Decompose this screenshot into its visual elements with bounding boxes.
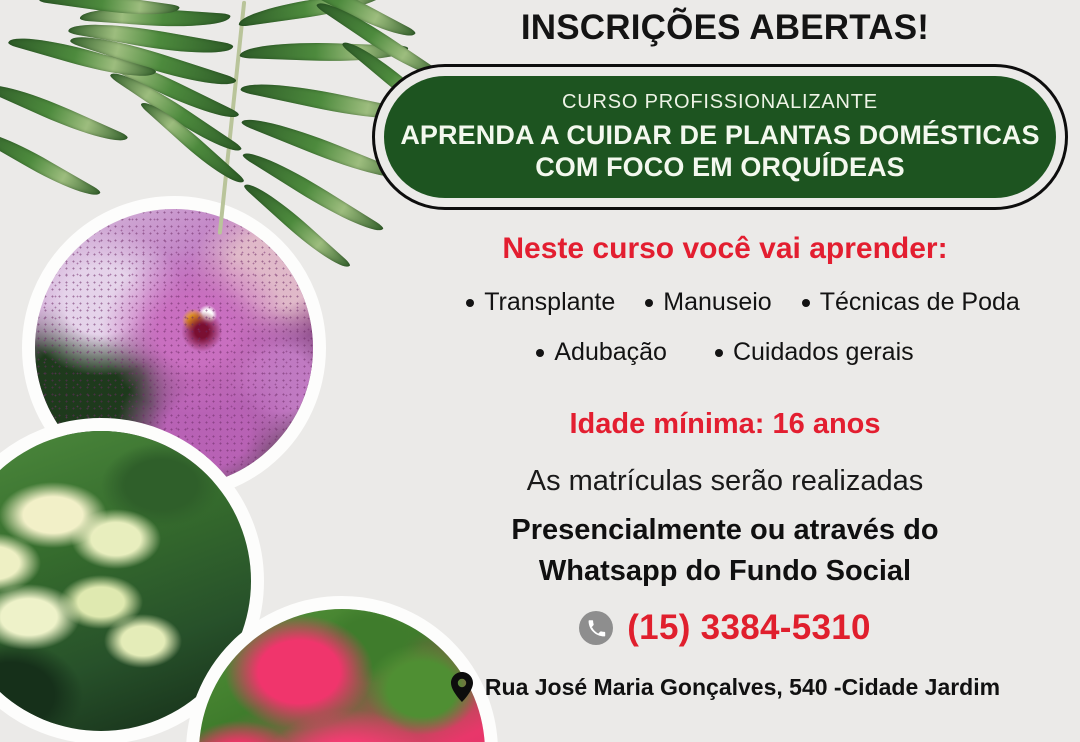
topic-label: Manuseio xyxy=(663,288,771,317)
topic-item: Adubação xyxy=(536,338,667,367)
address-text: Rua José Maria Gonçalves, 540 -Cidade Ja… xyxy=(485,674,1000,701)
banner-green-pill: CURSO PROFISSIONALIZANTE APRENDA A CUIDA… xyxy=(384,76,1056,198)
banner-title-line1: APRENDA A CUIDAR DE PLANTAS DOMÉSTICAS xyxy=(400,120,1039,150)
age-requirement: Idade mínima: 16 anos xyxy=(370,408,1080,441)
enrollment-method: Presencialmente ou através do Whatsapp d… xyxy=(370,510,1080,592)
phone-contact[interactable]: (15) 3384-5310 xyxy=(370,608,1080,648)
bullet-dot-icon xyxy=(802,299,810,307)
banner-title: APRENDA A CUIDAR DE PLANTAS DOMÉSTICAS C… xyxy=(388,120,1051,183)
content-column: INSCRIÇÕES ABERTAS! CURSO PROFISSIONALIZ… xyxy=(370,0,1080,742)
bullet-dot-icon xyxy=(466,299,474,307)
bullet-dot-icon xyxy=(715,349,723,357)
course-banner: CURSO PROFISSIONALIZANTE APRENDA A CUIDA… xyxy=(372,64,1068,210)
topics-row-2: Adubação Cuidados gerais xyxy=(370,338,1080,367)
banner-title-line2: COM FOCO EM ORQUÍDEAS xyxy=(535,152,905,182)
topic-label: Cuidados gerais xyxy=(733,338,914,367)
address-contact: Rua José Maria Gonçalves, 540 -Cidade Ja… xyxy=(370,672,1080,702)
enrollment-intro: As matrículas serão realizadas xyxy=(370,465,1080,498)
location-pin-icon xyxy=(450,672,474,702)
topic-label: Técnicas de Poda xyxy=(820,288,1020,317)
phone-icon xyxy=(579,611,613,645)
bullet-dot-icon xyxy=(536,349,544,357)
phone-number[interactable]: (15) 3384-5310 xyxy=(627,608,871,648)
page-title: INSCRIÇÕES ABERTAS! xyxy=(370,8,1080,48)
flyer-poster: INSCRIÇÕES ABERTAS! CURSO PROFISSIONALIZ… xyxy=(0,0,1080,742)
learn-heading: Neste curso você vai aprender: xyxy=(370,232,1080,266)
bullet-dot-icon xyxy=(645,299,653,307)
topic-label: Transplante xyxy=(484,288,615,317)
topic-item: Manuseio xyxy=(645,288,771,317)
enrollment-method-line1: Presencialmente ou através do xyxy=(511,514,938,546)
topic-item: Cuidados gerais xyxy=(715,338,914,367)
topic-item: Técnicas de Poda xyxy=(802,288,1020,317)
topics-row-1: Transplante Manuseio Técnicas de Poda xyxy=(406,288,1080,317)
enrollment-method-line2: Whatsapp do Fundo Social xyxy=(539,555,911,587)
topic-item: Transplante xyxy=(466,288,615,317)
banner-subtitle: CURSO PROFISSIONALIZANTE xyxy=(562,91,878,114)
topic-label: Adubação xyxy=(554,338,667,367)
